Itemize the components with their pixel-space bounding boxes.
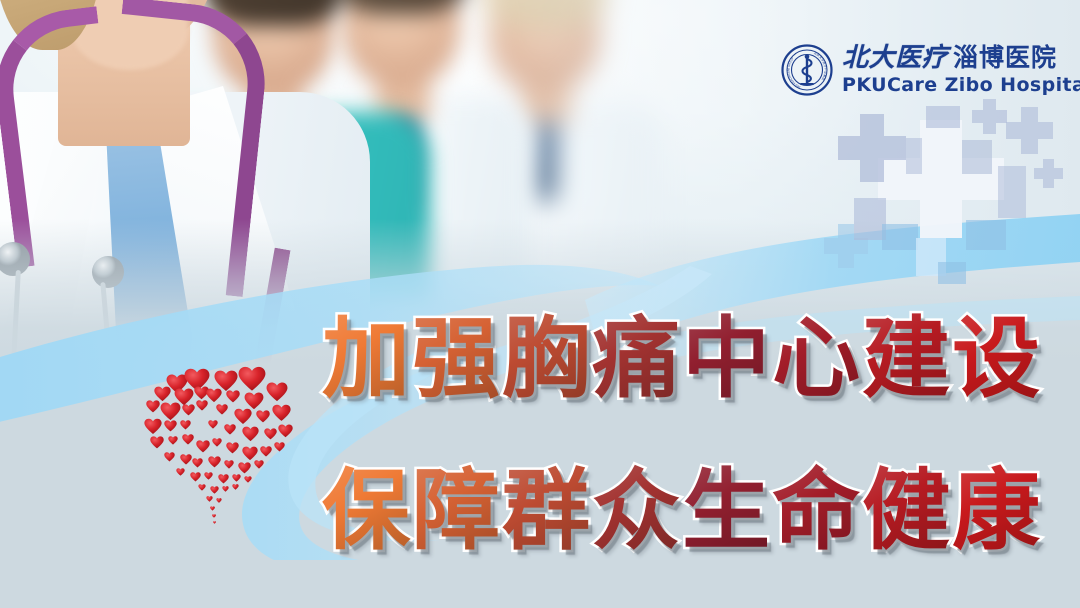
cross-small-topright — [1006, 107, 1053, 154]
headline-char: 障 — [412, 440, 502, 567]
headline-line-1: 加强胸痛中心建设 — [322, 288, 1042, 415]
cross-square-i — [938, 262, 966, 284]
headline-char: 命 — [772, 440, 862, 567]
cross-square-f — [966, 220, 1006, 250]
headline-char: 众 — [592, 440, 682, 567]
headline-char: 康 — [952, 440, 1042, 567]
logo-brand-cn: 北大医疗 — [842, 45, 948, 71]
cross-square-e — [998, 166, 1026, 218]
headline-char: 胸 — [502, 288, 592, 415]
headline-char: 健 — [862, 440, 952, 567]
headline-char: 生 — [682, 440, 772, 567]
headline-char: 群 — [502, 440, 592, 567]
poster-canvas: 北京大学医疗产业集团 PKU HEALTHCARE GROUP 北大医疗 淄博医… — [0, 0, 1080, 608]
cross-tiny-right — [1034, 159, 1063, 188]
headline-char: 保 — [322, 440, 412, 567]
medical-cross-cluster — [820, 96, 1080, 286]
headline-char: 强 — [412, 288, 502, 415]
caduceus-seal-icon: 北京大学医疗产业集团 PKU HEALTHCARE GROUP — [781, 44, 833, 96]
cross-square-g — [882, 224, 918, 250]
cross-square-a — [926, 106, 960, 128]
headline-char: 加 — [322, 288, 412, 415]
heart-of-hearts-icon — [138, 362, 318, 532]
headline-char: 心 — [772, 288, 862, 415]
bottom-plate — [0, 560, 1080, 608]
cross-square-d — [854, 198, 886, 240]
hospital-logo[interactable]: 北京大学医疗产业集团 PKU HEALTHCARE GROUP 北大医疗 淄博医… — [781, 36, 1033, 104]
headline-char: 设 — [952, 288, 1042, 415]
headline-char: 痛 — [592, 288, 682, 415]
logo-site-cn: 淄博医院 — [953, 45, 1057, 70]
headline-line-2: 保障群众生命健康 — [322, 440, 1042, 567]
cross-tiny-top — [972, 99, 1007, 134]
cross-square-c — [906, 138, 922, 174]
cross-square-b — [962, 140, 992, 174]
headline-char: 建 — [862, 288, 952, 415]
logo-name-en: PKUCare Zibo Hospital — [842, 76, 1080, 95]
headline-char: 中 — [682, 288, 772, 415]
